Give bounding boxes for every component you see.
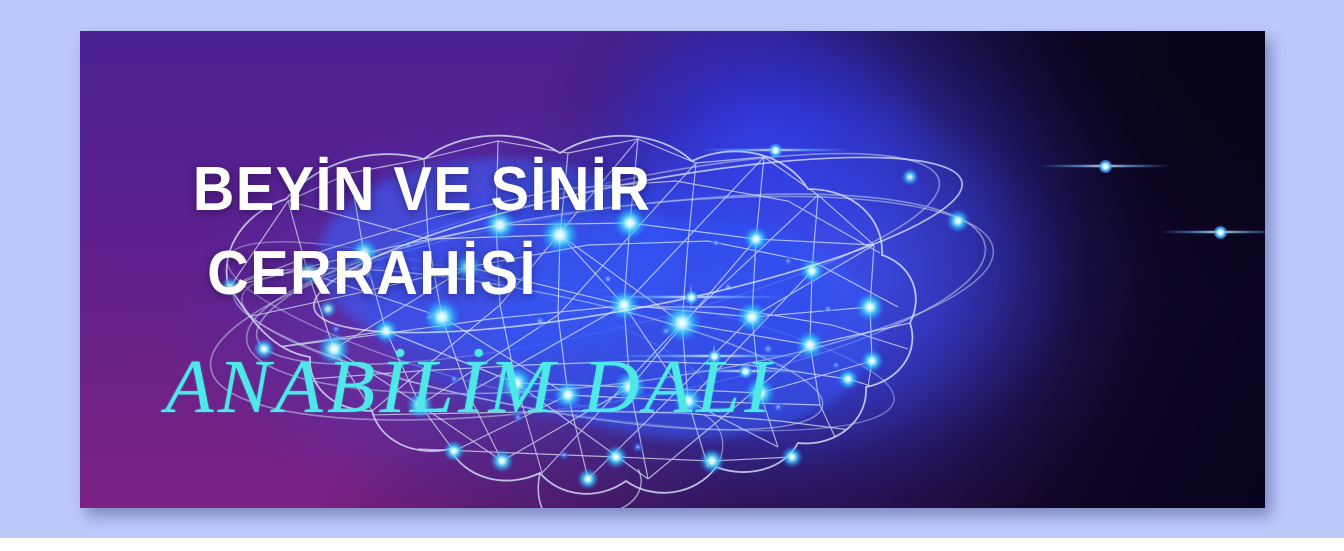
page-root: BEYİN VE SİNİR CERRAHİSİ ANABİLİM DALI xyxy=(0,0,1344,551)
banner-heading-line-1: BEYİN VE SİNİR xyxy=(80,159,775,221)
banner-text-block: BEYİN VE SİNİR CERRAHİSİ ANABİLİM DALI xyxy=(80,31,840,508)
banner-heading-line-2: CERRAHİSİ xyxy=(80,243,725,305)
page-footer-band xyxy=(0,538,1344,551)
banner-card: BEYİN VE SİNİR CERRAHİSİ ANABİLİM DALI xyxy=(80,31,1265,508)
banner-subtitle: ANABİLİM DALI xyxy=(80,349,865,425)
